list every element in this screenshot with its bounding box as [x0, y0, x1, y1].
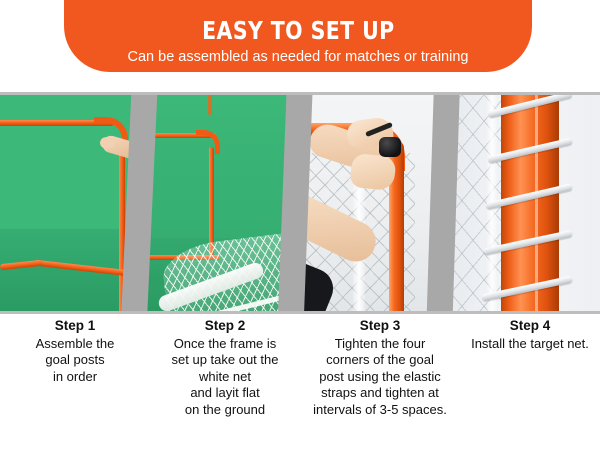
- caption-step-2-body: Once the frame is set up take out the wh…: [152, 336, 298, 419]
- step-captions: Step 1 Assemble the goal posts in order …: [0, 318, 600, 450]
- caption-step-1-title: Step 1: [2, 318, 148, 335]
- caption-step-1: Step 1 Assemble the goal posts in order: [0, 318, 150, 385]
- caption-step-2: Step 2 Once the frame is set up take out…: [150, 318, 300, 418]
- header-banner: EASY TO SET UP Can be assembled as neede…: [64, 0, 532, 72]
- banner-title: EASY TO SET UP: [202, 18, 394, 43]
- caption-step-1-body: Assemble the goal posts in order: [2, 336, 148, 386]
- caption-step-4: Step 4 Install the target net.: [460, 318, 600, 352]
- caption-step-3: Step 3 Tighten the four corners of the g…: [300, 318, 460, 418]
- step-3-photo-inner: [295, 95, 443, 311]
- hand-lower: [349, 153, 396, 191]
- step-4-photo: [443, 95, 600, 311]
- caption-step-2-title: Step 2: [152, 318, 298, 335]
- goal-upright-right: [208, 95, 212, 115]
- step-3-photo: [295, 95, 443, 311]
- post-highlight: [535, 95, 538, 311]
- caption-step-4-title: Step 4: [462, 318, 598, 335]
- step-1-photo: [0, 95, 140, 311]
- banner-subtitle: Can be assembled as needed for matches o…: [128, 50, 469, 65]
- step-4-photo-inner: [443, 95, 600, 311]
- caption-step-3-title: Step 3: [302, 318, 458, 335]
- strap-clip: [379, 137, 401, 157]
- step-1-photo-inner: [0, 95, 140, 311]
- instruction-photo-strip: [0, 92, 600, 314]
- caption-step-4-body: Install the target net.: [462, 336, 598, 353]
- caption-step-3-body: Tighten the four corners of the goal pos…: [302, 336, 458, 419]
- step-2-photo-inner: [140, 95, 295, 311]
- step-2-photo: [140, 95, 295, 311]
